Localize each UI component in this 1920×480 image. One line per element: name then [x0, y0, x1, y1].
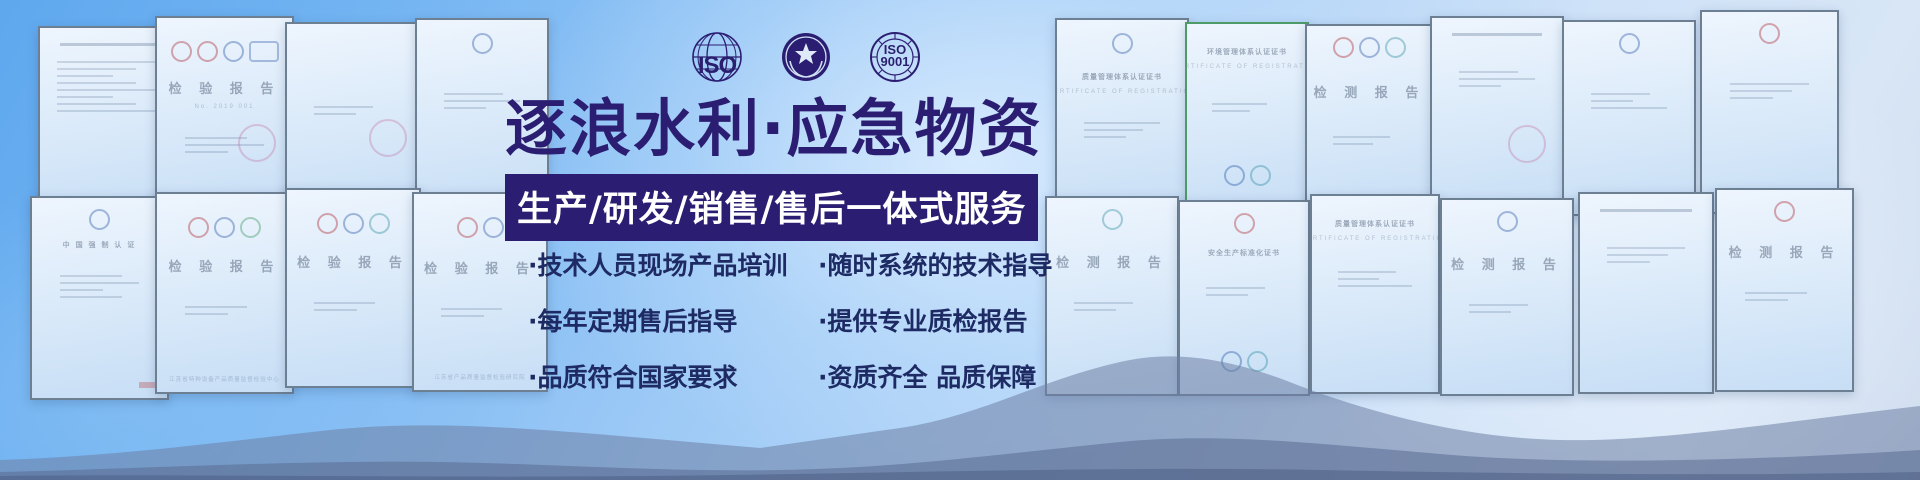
- certificate-thumb-green: 环境管理体系认证证书 CERTIFICATE OF REGISTRATION: [1185, 22, 1309, 214]
- wave-mark-icon: [249, 41, 279, 62]
- certificate-title: 质量管理体系认证证书: [1082, 72, 1162, 82]
- certificate-subtitle: CERTIFICATE OF REGISTRATION: [1055, 89, 1189, 95]
- certificate-thumb: [1700, 10, 1839, 214]
- red-stamp-icon: [238, 124, 276, 162]
- iso-seal-label: ISO: [690, 52, 744, 80]
- feature-item: ·提供专业质检报告: [818, 302, 1053, 338]
- certification-seals: ISO ISO 9001: [690, 30, 922, 89]
- certificate-title: 检 测 报 告: [1314, 82, 1426, 101]
- quality-inspection-seal: [780, 31, 832, 88]
- certificate-title: 环境管理体系认证证书: [1207, 47, 1287, 57]
- certificate-footer: 国家/省级水利器材质量检验中心: [157, 196, 292, 204]
- laurel-seal-icon: [780, 31, 832, 83]
- certificate-thumb: 检 验 报 告 No. 2019 001 国家/省级水利器材质量检验中心: [155, 16, 294, 215]
- feature-item: ·资质齐全 品质保障: [818, 358, 1053, 394]
- iso9001-seal-label: ISO 9001: [868, 44, 922, 68]
- certificate-subtitle: No. 2019 001: [194, 104, 254, 110]
- feature-item: ·品质符合国家要求: [528, 358, 800, 394]
- page-title: 逐浪水利·应急物资: [505, 98, 1085, 160]
- subtitle-bar: 生产/研发/销售/售后一体式服务: [505, 174, 1038, 241]
- headline-block: 逐浪水利·应急物资 生产/研发/销售/售后一体式服务: [505, 98, 1085, 241]
- certificate-thumb: [38, 26, 177, 220]
- iso9001-seal: ISO 9001: [868, 30, 922, 89]
- ccc-mark-icon: [171, 41, 192, 62]
- blue-mark-icon: [223, 41, 244, 62]
- certificate-thumb: [1562, 20, 1696, 216]
- iso-seal: ISO: [690, 30, 744, 89]
- certificate-subtitle: CERTIFICATE OF REGISTRATION: [1185, 64, 1309, 70]
- feature-item: ·每年定期售后指导: [528, 302, 800, 338]
- a-mark-icon: [197, 41, 218, 62]
- certificate-title: 检 验 报 告: [169, 78, 281, 97]
- certificate-thumb: [1430, 16, 1564, 216]
- promo-banner: 检 验 报 告 No. 2019 001 国家/省级水利器材质量检验中心: [0, 0, 1920, 480]
- feature-item: ·技术人员现场产品培训: [528, 246, 800, 282]
- feature-list: ·技术人员现场产品培训 ·随时系统的技术指导 ·每年定期售后指导 ·提供专业质检…: [528, 246, 1053, 394]
- certificate-thumb: 检 测 报 告: [1305, 24, 1434, 213]
- feature-item: ·随时系统的技术指导: [818, 246, 1053, 282]
- certificate-thumb: [285, 22, 419, 216]
